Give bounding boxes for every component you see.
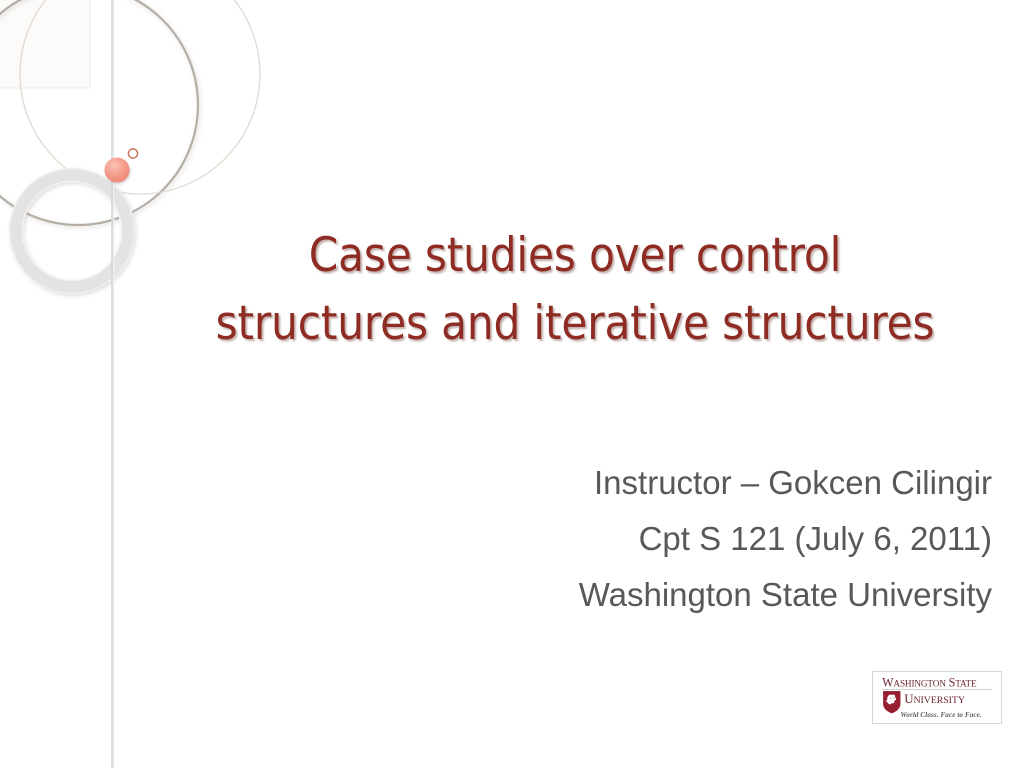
subtitle-course: Cpt S 121 (July 6, 2011)	[300, 511, 992, 567]
accent-dot	[105, 158, 130, 183]
accent-circle-outline	[128, 149, 137, 158]
title-line-2: structures and iterative structures	[176, 290, 973, 358]
slide-subtitle: Instructor – Gokcen Cilingir Cpt S 121 (…	[300, 455, 992, 623]
subtitle-instructor: Instructor – Gokcen Cilingir	[300, 455, 992, 511]
cougar-shield-icon	[883, 691, 900, 713]
gray-ring	[16, 175, 128, 287]
washington-state-university-logo: WASHINGTON STATE UNIVERSITY World Class.…	[872, 671, 1002, 724]
logo-line2-text: UNIVERSITY	[904, 692, 965, 706]
tan-arc-inner-outline	[20, 0, 260, 194]
panel-rectangle	[0, 0, 90, 88]
title-line-1: Case studies over control	[176, 222, 973, 290]
tan-arc-outline	[0, 0, 198, 225]
page-title: Case studies over control structures and…	[132, 222, 1018, 358]
slide-decoration	[0, 0, 1024, 768]
logo-tagline-text: World Class. Face to Face.	[900, 711, 981, 719]
subtitle-institution: Washington State University	[300, 567, 992, 623]
gray-ring-inner-highlight	[10, 169, 135, 294]
vertical-divider	[111, 0, 114, 768]
logo-line1-text: WASHINGTON STATE	[882, 675, 977, 689]
presentation-slide: Case studies over control structures and…	[0, 0, 1024, 768]
